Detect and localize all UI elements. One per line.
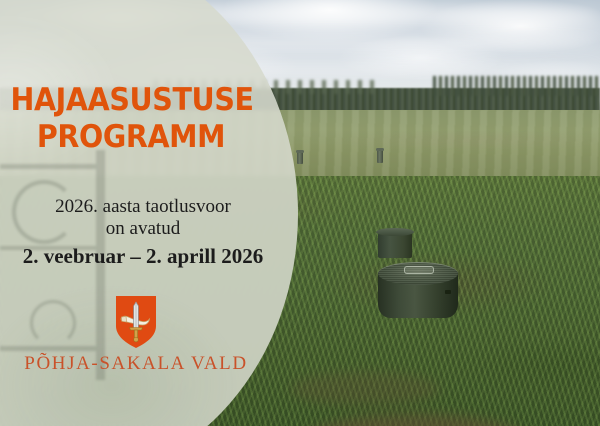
standpipe — [377, 150, 383, 163]
tank-vent — [445, 290, 451, 294]
announcement-line-2: on avatud — [0, 218, 286, 240]
announcement-text: 2026. aasta taotlusvoor on avatud 2. vee… — [0, 196, 286, 269]
announcement-dates: 2. veebruar – 2. aprill 2026 — [0, 244, 286, 269]
page-title: HAJAASUSTUSE PROGRAMM — [10, 82, 251, 156]
septic-tank-lid — [378, 262, 458, 320]
poster-canvas: HAJAASUSTUSE PROGRAMM 2026. aasta taotlu… — [0, 0, 600, 426]
headline-line-2: PROGRAMM — [10, 119, 251, 156]
standpipe — [297, 152, 303, 164]
coat-of-arms-icon — [116, 296, 156, 348]
tank-handle — [404, 266, 434, 274]
bare-soil-patch — [290, 372, 440, 406]
headline-line-1: HAJAASUSTUSE — [10, 82, 251, 119]
municipality-logo: PÕHJA-SAKALA VALD — [0, 296, 272, 375]
announcement-line-1: 2026. aasta taotlusvoor — [0, 196, 286, 218]
municipality-wordmark: PÕHJA-SAKALA VALD — [0, 353, 272, 375]
septic-tank-riser — [378, 232, 412, 258]
poster-content: HAJAASUSTUSE PROGRAMM 2026. aasta taotlu… — [0, 0, 280, 426]
